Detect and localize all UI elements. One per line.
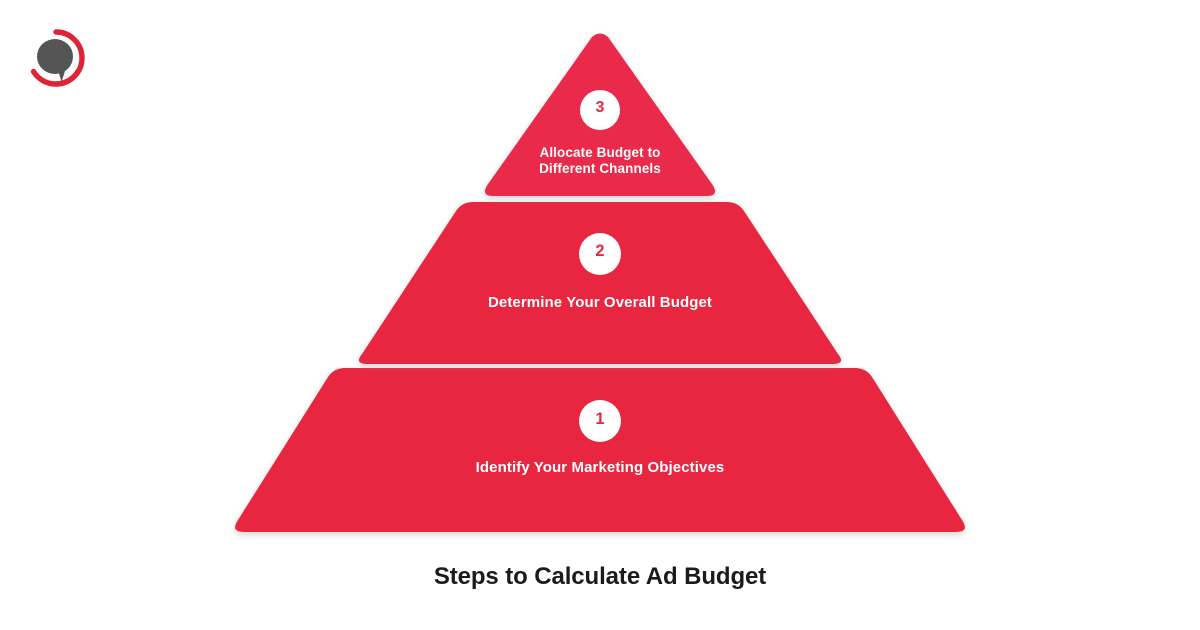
pyramid-tier-1-shape[interactable] bbox=[235, 368, 965, 532]
infographic-canvas: 1 2 3 Identify Your Marketing Objectives… bbox=[0, 0, 1200, 630]
pyramid-tier-1-badge bbox=[579, 400, 621, 442]
pyramid-shapes bbox=[0, 0, 1200, 560]
pyramid-tier-2-shape[interactable] bbox=[359, 202, 841, 364]
pyramid-tier-2-badge bbox=[579, 233, 621, 275]
chart-title: Steps to Calculate Ad Budget bbox=[0, 563, 1200, 591]
pyramid-tier-3-badge bbox=[580, 90, 620, 130]
pyramid-chart: 1 2 3 Identify Your Marketing Objectives… bbox=[0, 0, 1200, 560]
